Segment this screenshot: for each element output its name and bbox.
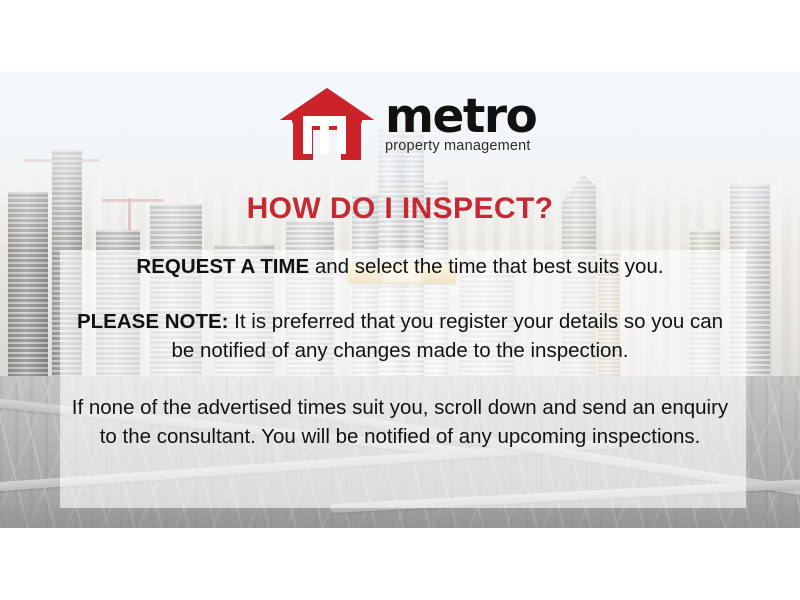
please-note-label: PLEASE NOTE:: [77, 310, 229, 333]
promo-graphic: metro property management HOW DO I INSPE…: [0, 0, 800, 600]
metro-logo: metro property management: [279, 84, 529, 164]
page-title: HOW DO I INSPECT?: [0, 192, 800, 226]
instruction-paragraph-3: If none of the advertised times suit you…: [70, 393, 730, 451]
logo-name: metro: [385, 95, 536, 138]
request-a-time-label: REQUEST A TIME: [136, 255, 309, 278]
instruction-paragraph-1-rest: and select the time that best suits you.: [309, 255, 663, 278]
body-copy: REQUEST A TIME and select the time that …: [70, 252, 730, 452]
instruction-paragraph-2-rest: It is preferred that you register your d…: [171, 310, 723, 362]
logo-tagline: property management: [385, 139, 536, 155]
house-roof-m-monogram-icon: [279, 86, 375, 162]
logo-wordmark: metro property management: [385, 93, 536, 155]
instruction-paragraph-2: PLEASE NOTE: It is preferred that you re…: [70, 307, 730, 365]
instruction-paragraph-1: REQUEST A TIME and select the time that …: [70, 252, 730, 281]
